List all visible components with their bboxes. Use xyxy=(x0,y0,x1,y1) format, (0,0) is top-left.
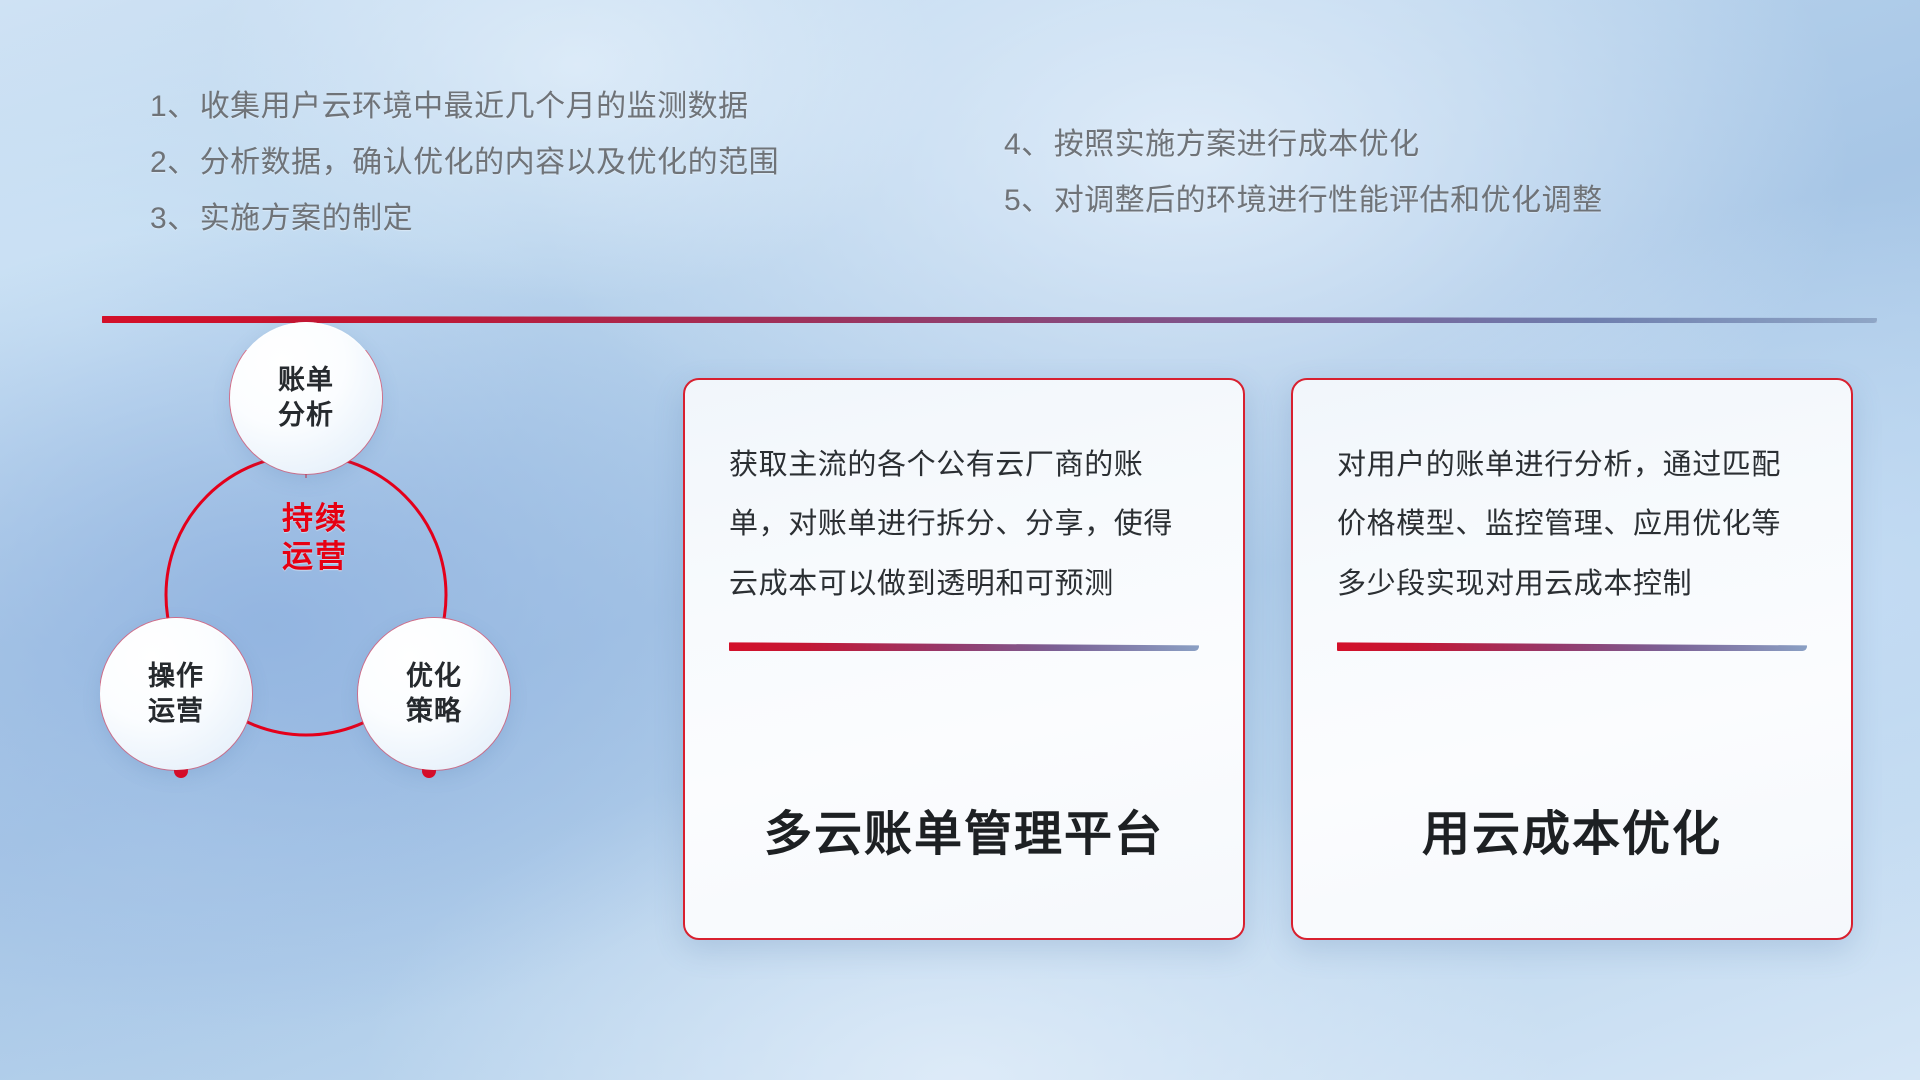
list-item: 5、 对调整后的环境进行性能评估和优化调整 xyxy=(1004,186,1603,216)
list-item-label: 实施方案的制定 xyxy=(200,204,414,234)
list-item-number: 3、 xyxy=(150,204,198,234)
venn-bubble-operations: 操作 运营 xyxy=(100,618,252,770)
bubble-line-1: 操作 xyxy=(148,659,204,694)
list-item-number: 5、 xyxy=(1004,186,1052,216)
venn-center-label: 持续 运营 xyxy=(255,500,375,577)
card-divider xyxy=(1337,642,1807,651)
bubble-line-2: 运营 xyxy=(148,694,204,729)
card-cloud-cost-optimization[interactable]: 对用户的账单进行分析，通过匹配价格模型、监控管理、应用优化等多少段实现对用云成本… xyxy=(1291,378,1853,940)
card-multicloud-billing[interactable]: 获取主流的各个公有云厂商的账单，对账单进行拆分、分享，使得云成本可以做到透明和可… xyxy=(683,378,1245,940)
bubble-line-2: 分析 xyxy=(278,398,334,433)
card-body-text: 获取主流的各个公有云厂商的账单，对账单进行拆分、分享，使得云成本可以做到透明和可… xyxy=(729,436,1199,614)
list-item-label: 按照实施方案进行成本优化 xyxy=(1054,130,1420,160)
list-item-number: 4、 xyxy=(1004,130,1052,160)
steps-right-column: 4、 按照实施方案进行成本优化 5、 对调整后的环境进行性能评估和优化调整 xyxy=(1004,130,1603,242)
card-divider xyxy=(729,642,1199,651)
bubble-line-1: 账单 xyxy=(278,363,334,398)
list-item: 4、 按照实施方案进行成本优化 xyxy=(1004,130,1603,160)
card-title: 多云账单管理平台 xyxy=(729,794,1199,864)
bubble-line-2: 策略 xyxy=(406,694,462,729)
list-item-number: 2、 xyxy=(150,148,198,178)
list-item-label: 分析数据，确认优化的内容以及优化的范围 xyxy=(200,148,780,178)
list-item-label: 对调整后的环境进行性能评估和优化调整 xyxy=(1054,186,1603,216)
venn-bubble-bill-analysis: 账单 分析 xyxy=(230,322,382,474)
card-title: 用云成本优化 xyxy=(1337,794,1807,864)
center-label-line-2: 运营 xyxy=(255,538,375,576)
list-item: 1、 收集用户云环境中最近几个月的监测数据 xyxy=(150,92,779,122)
list-item-number: 1、 xyxy=(150,92,198,122)
bubble-line-1: 优化 xyxy=(406,659,462,694)
center-label-line-1: 持续 xyxy=(255,500,375,538)
list-item: 2、 分析数据，确认优化的内容以及优化的范围 xyxy=(150,148,779,178)
venn-diagram: 账单 分析 操作 运营 优化 策略 持续 运营 xyxy=(100,350,570,850)
card-body-text: 对用户的账单进行分析，通过匹配价格模型、监控管理、应用优化等多少段实现对用云成本… xyxy=(1337,436,1807,614)
venn-bubble-optimization-strategy: 优化 策略 xyxy=(358,618,510,770)
steps-left-column: 1、 收集用户云环境中最近几个月的监测数据 2、 分析数据，确认优化的内容以及优… xyxy=(150,92,779,260)
list-item-label: 收集用户云环境中最近几个月的监测数据 xyxy=(200,92,749,122)
list-item: 3、 实施方案的制定 xyxy=(150,204,779,234)
